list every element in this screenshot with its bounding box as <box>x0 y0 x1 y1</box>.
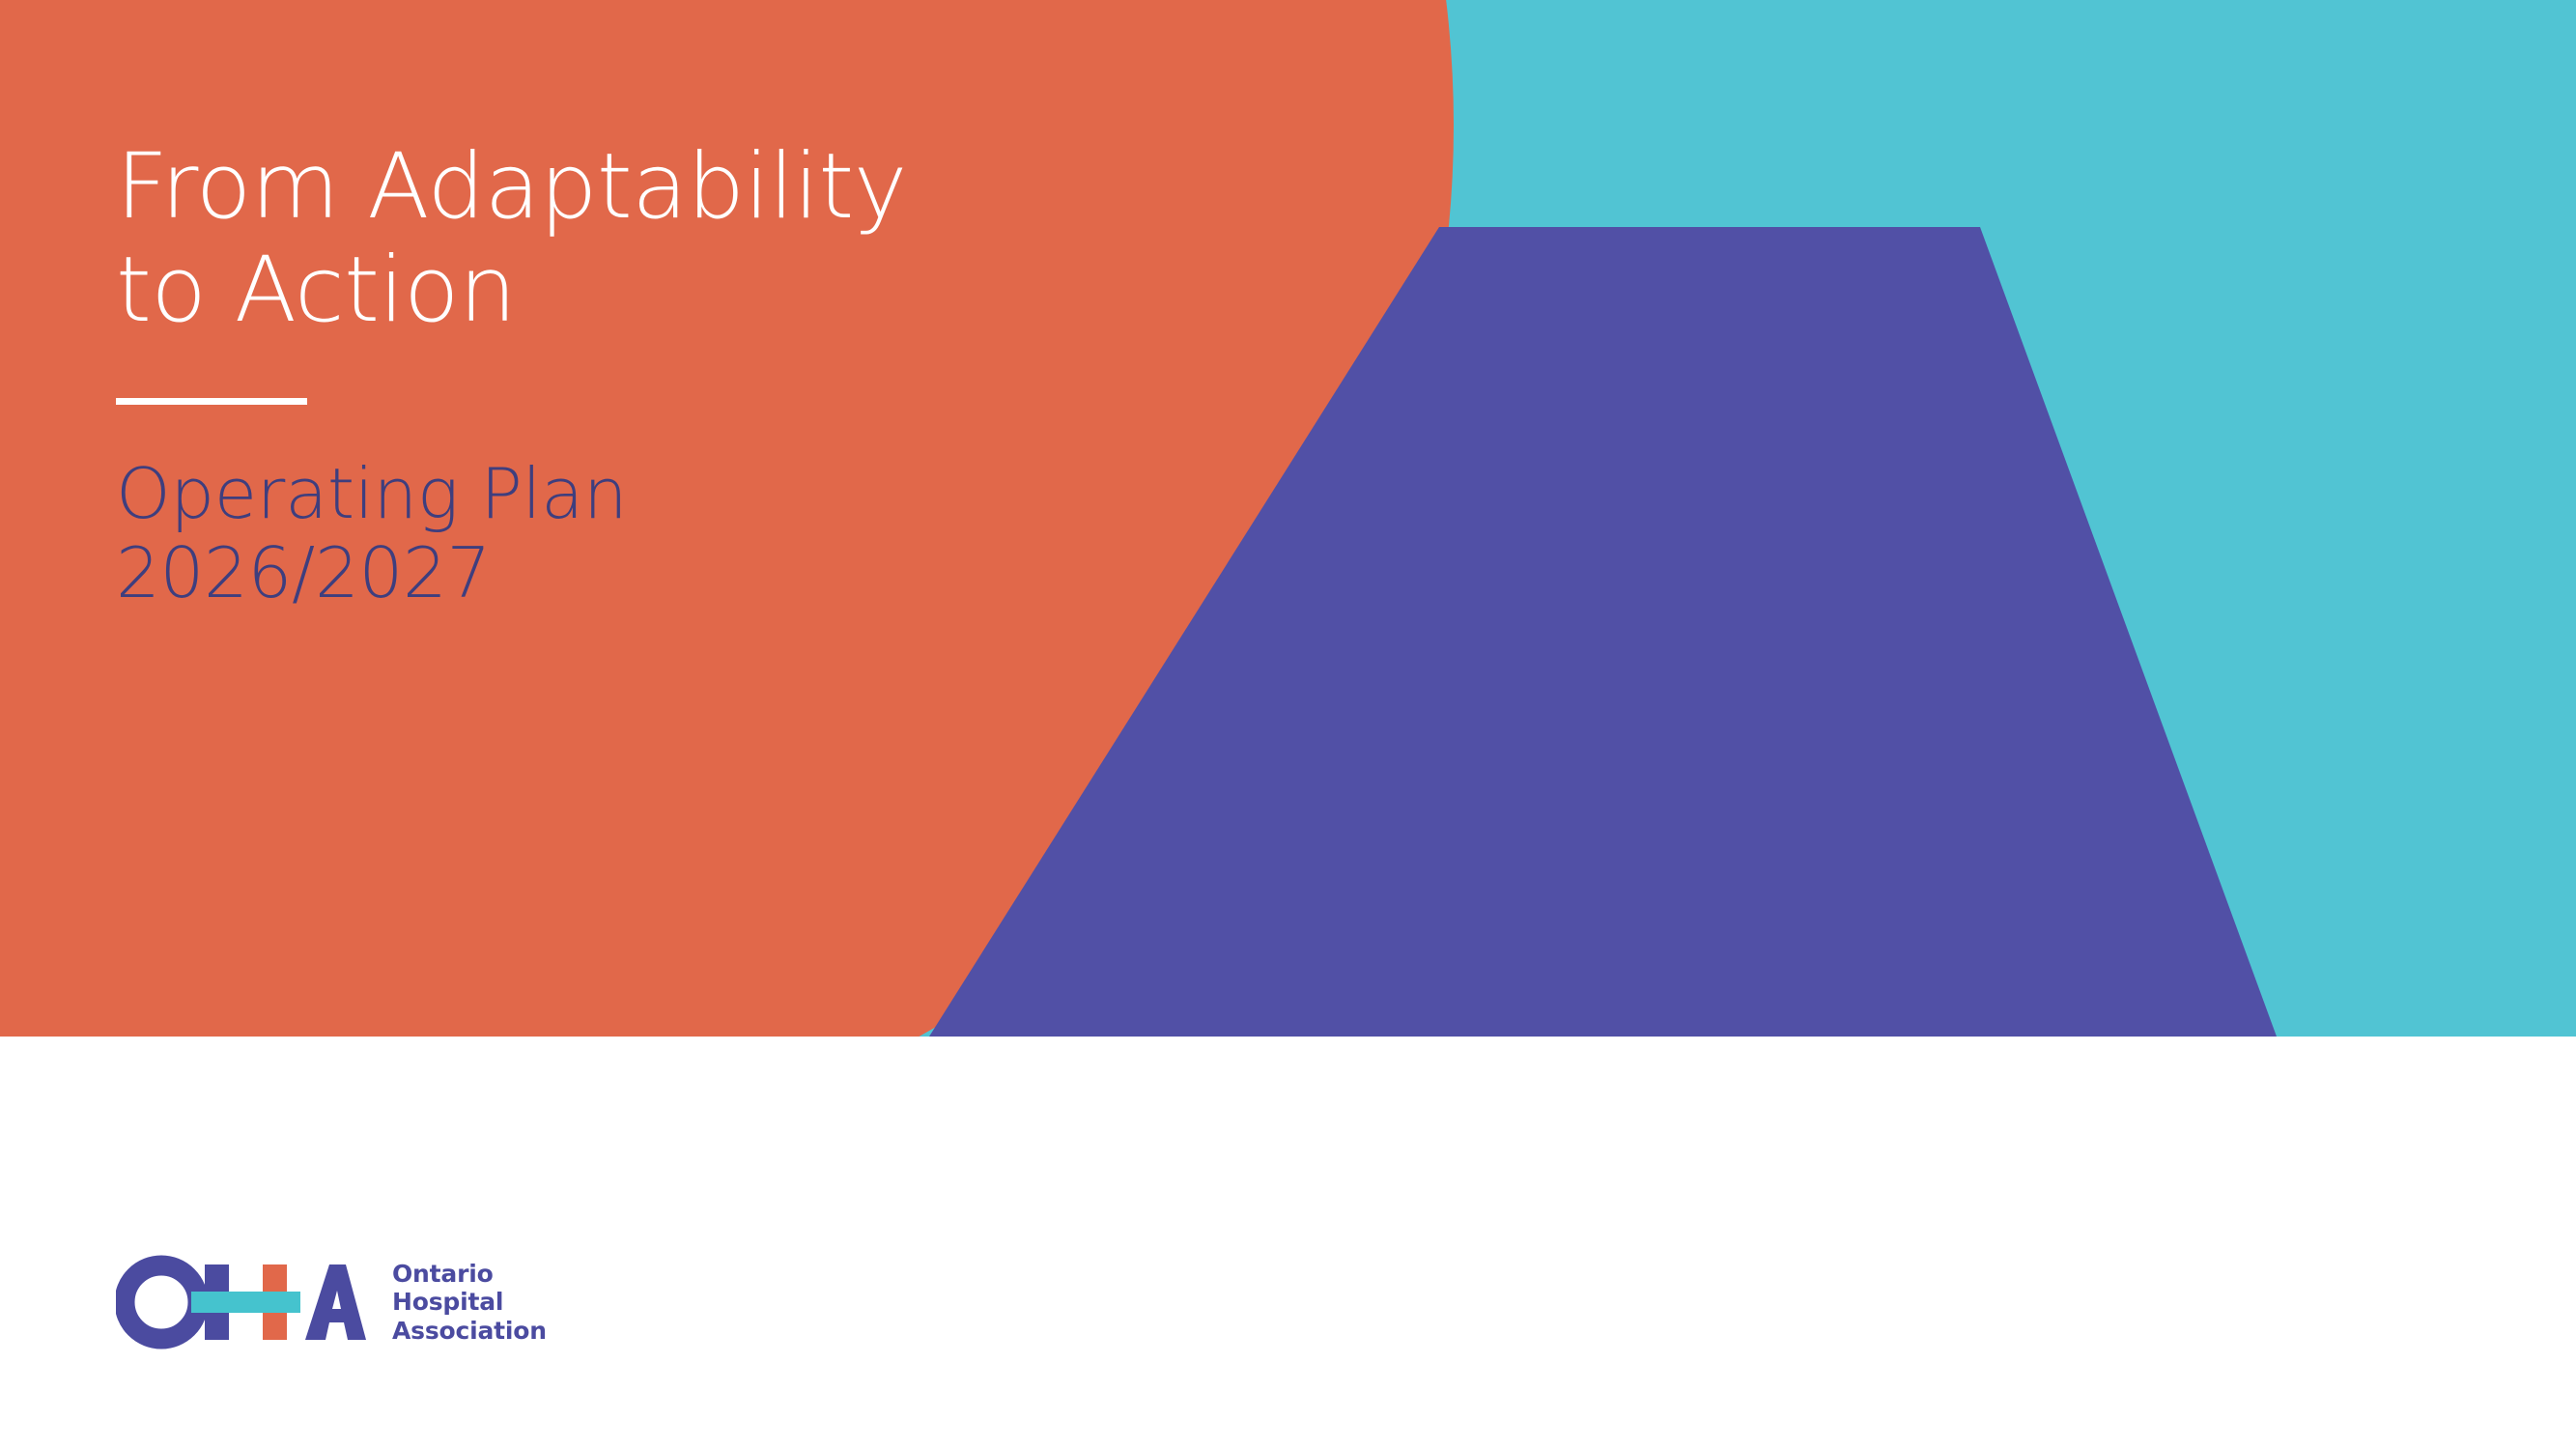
logo-letter-a-icon <box>305 1264 366 1340</box>
title-divider-rule <box>116 398 307 405</box>
title-slide: From Adaptability to Action Operating Pl… <box>0 0 2576 1449</box>
logo-letter-o-icon <box>125 1265 198 1339</box>
page-title: From Adaptability to Action <box>116 135 1082 342</box>
oha-logo: Ontario Hospital Association <box>116 1251 547 1353</box>
page-subtitle: Operating Plan 2026/2027 <box>116 455 1082 612</box>
logo-wordmark-line-3: Association <box>392 1317 547 1346</box>
headline-block: From Adaptability to Action Operating Pl… <box>116 135 1082 612</box>
logo-wordmark-line-1: Ontario <box>392 1260 547 1289</box>
logo-wordmark-line-2: Hospital <box>392 1288 547 1317</box>
oha-logo-wordmark: Ontario Hospital Association <box>392 1260 547 1346</box>
oha-logo-mark-icon <box>116 1251 367 1353</box>
logo-letter-h-crossbar-icon <box>191 1292 300 1313</box>
